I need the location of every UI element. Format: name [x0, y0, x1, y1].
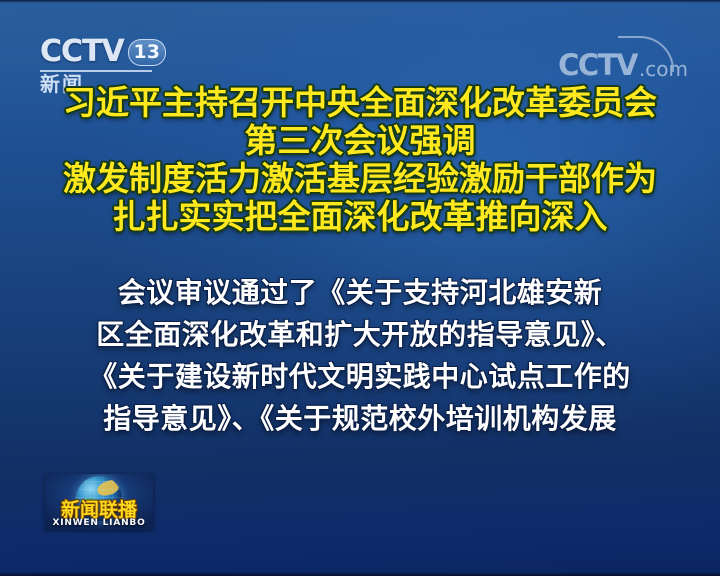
- headline-line-1: 习近平主持召开中央全面深化改革委员会: [0, 84, 720, 122]
- body-line-3: 《关于建设新时代文明实践中心试点工作的: [0, 356, 720, 398]
- watermark-arc-icon: [618, 36, 674, 72]
- body-line-1: 会议审议通过了《关于支持河北雄安新: [0, 272, 720, 314]
- site-watermark: CCTV .com: [558, 38, 688, 80]
- top-edge-divider: [0, 0, 720, 3]
- channel-number-label: 13: [133, 43, 159, 62]
- body-line-2: 区全面深化改革和扩大开放的指导意见》、: [0, 314, 720, 356]
- body-line-4: 指导意见》、《关于规范校外培训机构发展: [0, 398, 720, 440]
- bottom-edge-divider: [0, 572, 720, 576]
- program-bug: 新闻联播 XINWEN LIANBO: [45, 474, 153, 530]
- program-bug-title: 新闻联播: [45, 500, 153, 520]
- headline-line-2: 第三次会议强调: [0, 122, 720, 160]
- headline-line-4: 扎扎实实把全面深化改革推向深入: [0, 198, 720, 236]
- body-text-block: 会议审议通过了《关于支持河北雄安新 区全面深化改革和扩大开放的指导意见》、 《关…: [0, 272, 720, 440]
- cctv-wordmark: CCTV: [40, 37, 124, 67]
- channel-number-badge: 13: [128, 39, 166, 66]
- headline-block: 习近平主持召开中央全面深化改革委员会 第三次会议强调 激发制度活力激活基层经验激…: [0, 84, 720, 236]
- broadcast-screen: CCTV 13 新闻 CCTV .com 习近平主持召开中央全面深化改革委员会 …: [0, 0, 720, 576]
- channel-logo-row: CCTV 13: [40, 36, 190, 68]
- program-bug-pinyin: XINWEN LIANBO: [45, 518, 153, 528]
- headline-line-3: 激发制度活力激活基层经验激励干部作为: [0, 160, 720, 198]
